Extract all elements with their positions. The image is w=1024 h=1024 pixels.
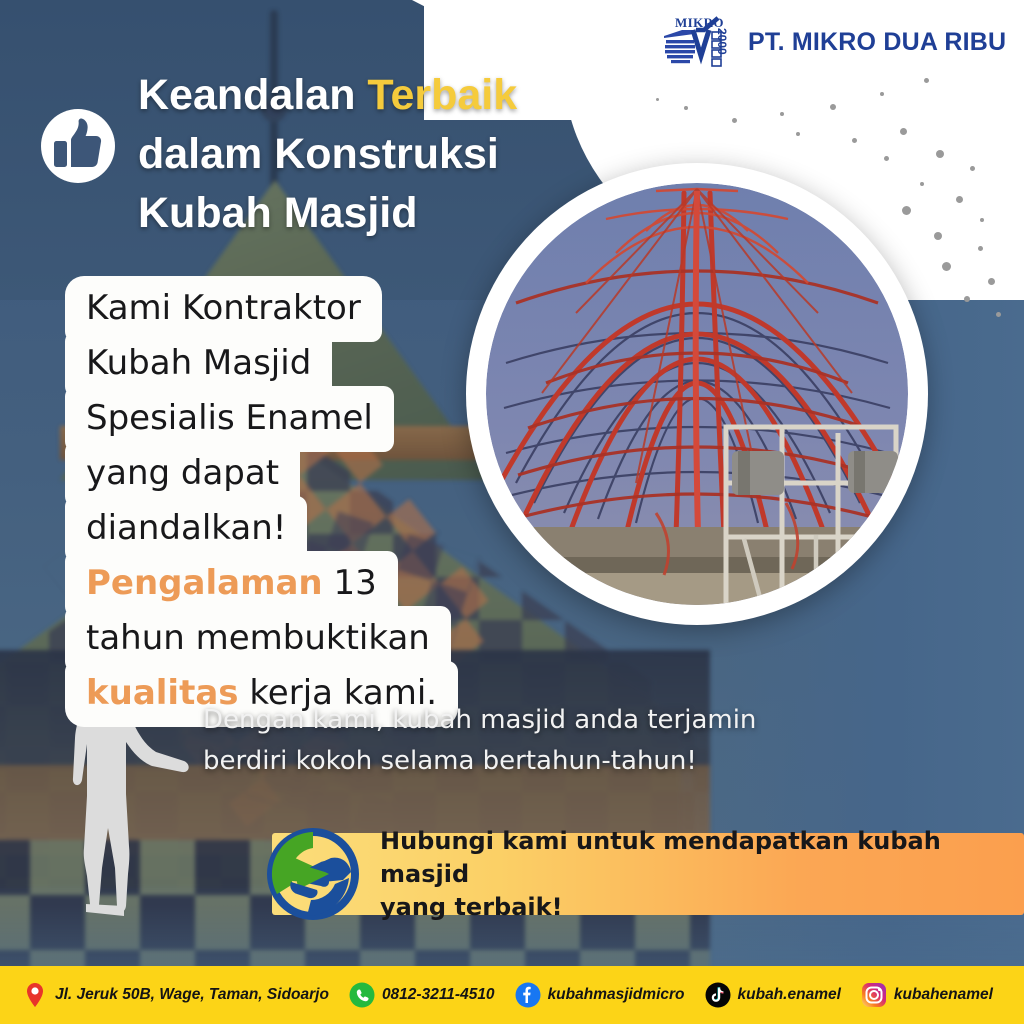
footer-facebook-text: kubahmasjidmicro: [548, 986, 685, 1004]
footer-address-text: Jl. Jeruk 50B, Wage, Taman, Sidoarjo: [55, 986, 329, 1004]
footer-contact-bar: Jl. Jeruk 50B, Wage, Taman, Sidoarjo 081…: [0, 966, 1024, 1024]
footer-phone-text: 0812-3211-4510: [382, 986, 495, 1004]
headline-line-1-plain: Keandalan: [138, 71, 367, 119]
tagline-line-2: berdiri kokoh selama bertahun-tahun!: [203, 741, 756, 782]
location-pin-icon: [22, 982, 48, 1008]
instagram-icon: [861, 982, 887, 1008]
body-line: yang dapat: [72, 448, 293, 500]
headline-line-3: Kubah Masjid: [138, 184, 658, 243]
body-line: Kubah Masjid: [72, 338, 325, 390]
company-name: PT. MIKRO DUA RIBU: [748, 28, 1006, 57]
brand-logo: MIKRO 2000 P: [660, 14, 1006, 70]
body-line: Pengalaman 13: [72, 558, 391, 610]
dome-construction-photo: [486, 183, 908, 605]
cta-text: Hubungi kami untuk mendapatkan kubah mas…: [380, 825, 1024, 924]
tiktok-icon: [705, 982, 731, 1008]
body-accent-pengalaman: Pengalaman: [86, 563, 323, 603]
body-line: diandalkan!: [72, 503, 300, 555]
poster-canvas: MIKRO 2000 P: [0, 0, 1024, 1024]
tagline: Dengan kami, kubah masjid anda terjamin …: [203, 700, 756, 782]
footer-item-tiktok[interactable]: kubah.enamel: [705, 982, 841, 1008]
tagline-line-1: Dengan kami, kubah masjid anda terjamin: [203, 700, 756, 741]
footer-instagram-text: kubahenamel: [894, 986, 993, 1004]
cta-line-1: Hubungi kami untuk mendapatkan kubah mas…: [380, 825, 1024, 891]
footer-tiktok-text: kubah.enamel: [738, 986, 841, 1004]
headline-accent: Terbaik: [367, 71, 517, 119]
footer-item-facebook[interactable]: kubahmasjidmicro: [515, 982, 685, 1008]
facebook-icon: [515, 982, 541, 1008]
body-line-text: 13: [323, 563, 377, 603]
mikro-2000-logo-icon: MIKRO 2000: [660, 14, 738, 70]
handshake-icon: [267, 828, 359, 920]
footer-item-address[interactable]: Jl. Jeruk 50B, Wage, Taman, Sidoarjo: [22, 982, 329, 1008]
page-title: Keandalan Terbaik dalam Konstruksi Kubah…: [138, 66, 658, 243]
body-line: Spesialis Enamel: [72, 393, 387, 445]
whatsapp-icon: [349, 982, 375, 1008]
thumbs-up-icon: [40, 108, 116, 184]
footer-item-instagram[interactable]: kubahenamel: [861, 982, 993, 1008]
body-text-block: Kami Kontraktor Kubah Masjid Spesialis E…: [72, 283, 451, 723]
headline-line-1: Keandalan Terbaik: [138, 66, 658, 125]
headline-line-2: dalam Konstruksi: [138, 125, 658, 184]
footer-item-phone[interactable]: 0812-3211-4510: [349, 982, 495, 1008]
cta-banner[interactable]: Hubungi kami untuk mendapatkan kubah mas…: [272, 833, 1024, 915]
body-line: tahun membuktikan: [72, 613, 444, 665]
body-line: Kami Kontraktor: [72, 283, 375, 335]
cta-line-2: yang terbaik!: [380, 891, 1024, 924]
